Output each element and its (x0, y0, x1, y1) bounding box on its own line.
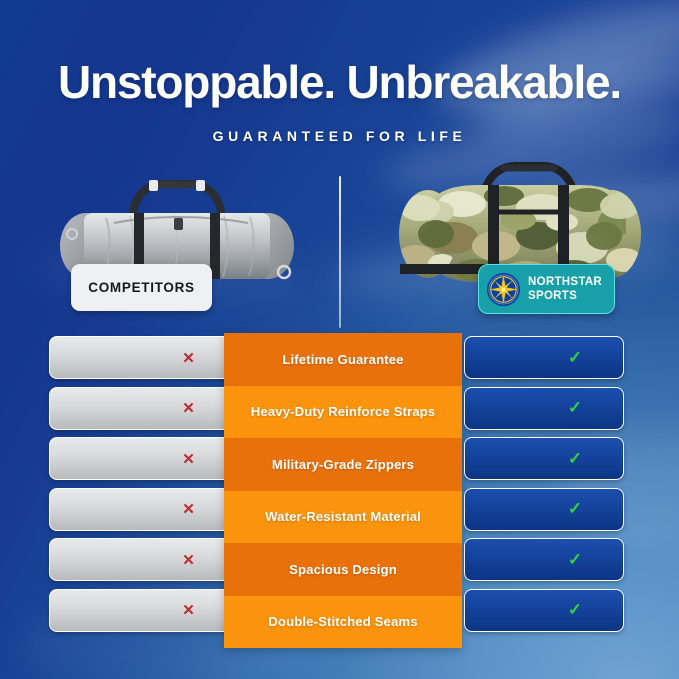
vertical-divider (339, 176, 341, 328)
feature-label: Double-Stitched Seams (224, 596, 462, 649)
brand-cell: ✓ (464, 437, 624, 480)
feature-label: Spacious Design (224, 543, 462, 596)
feature-label: Heavy-Duty Reinforce Straps (224, 386, 462, 439)
promo-canvas: Unstoppable. Unbreakable. GUARANTEED FOR… (0, 0, 679, 679)
brand-cell: ✓ (464, 336, 624, 379)
check-icon: ✓ (568, 550, 582, 570)
feature-label: Military-Grade Zippers (224, 438, 462, 491)
brand-cell: ✓ (464, 589, 624, 632)
compass-star-logo-icon (486, 272, 521, 307)
cross-icon: ✕ (182, 349, 195, 367)
competitor-cell: ✕ (49, 538, 249, 581)
badge-competitors-label: COMPETITORS (88, 280, 194, 295)
feature-labels-column: Lifetime GuaranteeHeavy-Duty Reinforce S… (224, 333, 462, 648)
cross-icon: ✕ (182, 551, 195, 569)
competitor-cell: ✕ (49, 387, 249, 430)
brand-cell: ✓ (464, 387, 624, 430)
check-icon: ✓ (568, 398, 582, 418)
check-icon: ✓ (568, 600, 582, 620)
feature-label: Lifetime Guarantee (224, 333, 462, 386)
feature-label: Water-Resistant Material (224, 491, 462, 544)
cross-icon: ✕ (182, 500, 195, 518)
brand-line-2: SPORTS (528, 289, 602, 303)
badge-northstar-label: NORTHSTAR SPORTS (528, 275, 602, 303)
brand-line-1: NORTHSTAR (528, 275, 602, 289)
cross-icon: ✕ (182, 450, 195, 468)
check-icon: ✓ (568, 499, 582, 519)
badge-competitors[interactable]: COMPETITORS (71, 264, 212, 311)
brand-cell: ✓ (464, 488, 624, 531)
competitor-cell: ✕ (49, 437, 249, 480)
check-icon: ✓ (568, 449, 582, 469)
check-icon: ✓ (568, 348, 582, 368)
brand-cell: ✓ (464, 538, 624, 581)
cross-icon: ✕ (182, 601, 195, 619)
competitor-cell: ✕ (49, 336, 249, 379)
cross-icon: ✕ (182, 399, 195, 417)
competitor-cell: ✕ (49, 488, 249, 531)
badge-northstar-sports[interactable]: NORTHSTAR SPORTS (478, 264, 615, 314)
page-subtitle: GUARANTEED FOR LIFE (0, 128, 679, 144)
page-title: Unstoppable. Unbreakable. (0, 58, 679, 106)
competitor-cell: ✕ (49, 589, 249, 632)
